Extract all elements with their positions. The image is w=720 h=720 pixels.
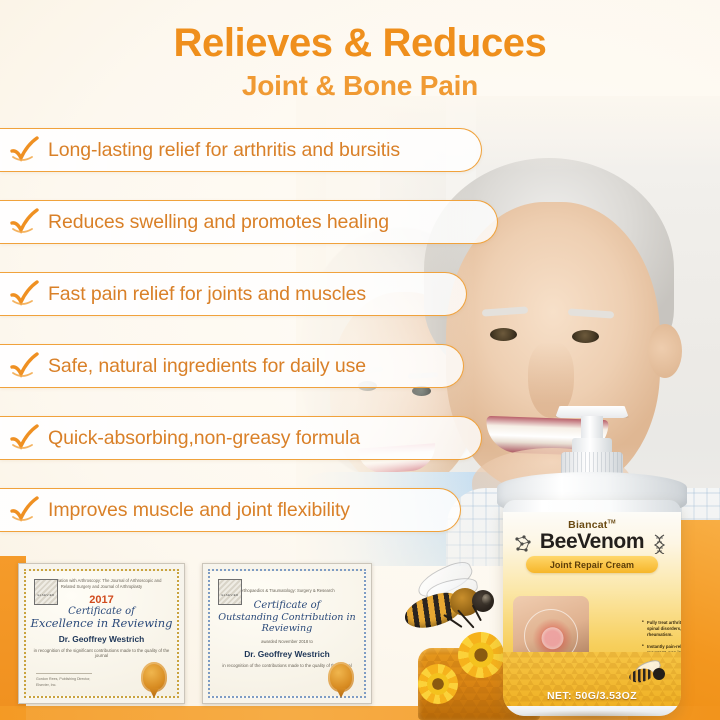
certificate-title: Certificate of Excellence in Reviewing [30, 606, 172, 631]
check-icon [8, 351, 42, 381]
elsevier-logo: ELSEVIER [34, 579, 58, 605]
sunflower-icon [418, 664, 458, 704]
benefit-item: Long-lasting relief for arthritis and bu… [0, 128, 482, 172]
benefit-item: Fast pain relief for joints and muscles [0, 272, 467, 316]
bee-head [653, 668, 665, 680]
dna-icon [649, 534, 669, 554]
product-label: BiancatTM BeeVenom Joint Repair Cream Fu… [503, 512, 681, 708]
certificate-excellence: ELSEVIER In cooperation with Arthroscopy… [18, 563, 185, 704]
product-subtitle-band: Joint Repair Cream [526, 556, 658, 573]
benefit-label: Improves muscle and joint flexibility [48, 499, 350, 522]
check-icon [8, 207, 42, 237]
benefit-label: Quick-absorbing,non-greasy formula [48, 427, 360, 450]
certificate-signature: Gordon Rees, Publishing Director, Elsevi… [36, 673, 92, 688]
bee-abdomen [628, 667, 654, 685]
net-weight-label: NET: 50G/3.53OZ [503, 690, 681, 702]
product-jar[interactable]: BiancatTM BeeVenom Joint Repair Cream Fu… [497, 404, 687, 720]
certificate-contribution: ELSEVIER Orthopaedics & Traumatology: Su… [202, 563, 372, 704]
certificate-seal [328, 662, 354, 692]
product-advertisement: Relieves & Reduces Joint & Bone Pain Lon… [0, 0, 720, 720]
check-icon [8, 135, 42, 165]
benefit-item: Reduces swelling and promotes healing [0, 200, 498, 244]
benefit-label: Fast pain relief for joints and muscles [48, 283, 366, 306]
headline-secondary: Joint & Bone Pain [0, 70, 720, 102]
certificate-seal [141, 662, 167, 692]
check-icon [8, 279, 42, 309]
benefit-item: Safe, natural ingredients for daily use [0, 344, 464, 388]
elsevier-logo: ELSEVIER [218, 579, 242, 605]
product-subtitle: Joint Repair Cream [550, 560, 634, 570]
headline-primary: Relieves & Reduces [0, 22, 720, 64]
certificate-year: 2017 [89, 594, 113, 606]
label-benefit-item: Fully treat arthritis, osteoporosis, spi… [643, 620, 681, 639]
benefit-label: Long-lasting relief for arthritis and bu… [48, 139, 400, 162]
benefit-item: Improves muscle and joint flexibility [0, 488, 461, 532]
headline-block: Relieves & Reduces Joint & Bone Pain [0, 22, 720, 102]
molecule-icon [513, 534, 533, 554]
benefit-item: Quick-absorbing,non-greasy formula [0, 416, 482, 460]
certificate-recipient: Dr. Geoffrey Westrich [59, 634, 144, 644]
certificate-preamble: Orthopaedics & Traumatology: Surgery & R… [239, 588, 334, 594]
bee-eye [482, 594, 491, 605]
trademark-symbol: TM [608, 520, 616, 526]
certificate-awarded-date: awarded November 2018 to [261, 639, 313, 645]
benefit-label: Safe, natural ingredients for daily use [48, 355, 366, 378]
certificate-recipient: Dr. Geoffrey Westrich [244, 649, 329, 659]
jar-body: BiancatTM BeeVenom Joint Repair Cream Fu… [503, 500, 681, 716]
certificate-preamble: In cooperation with Arthroscopy: The Jou… [42, 578, 162, 591]
pump-neck [581, 416, 603, 440]
check-icon [8, 423, 42, 453]
label-bee-icon [629, 662, 669, 684]
pump-dispenser-icon[interactable] [555, 404, 629, 480]
check-icon [8, 495, 42, 525]
jar-shadow [511, 710, 673, 720]
benefit-label: Reduces swelling and promotes healing [48, 211, 389, 234]
certificate-footnote: in recognition of the significant contri… [32, 648, 172, 658]
